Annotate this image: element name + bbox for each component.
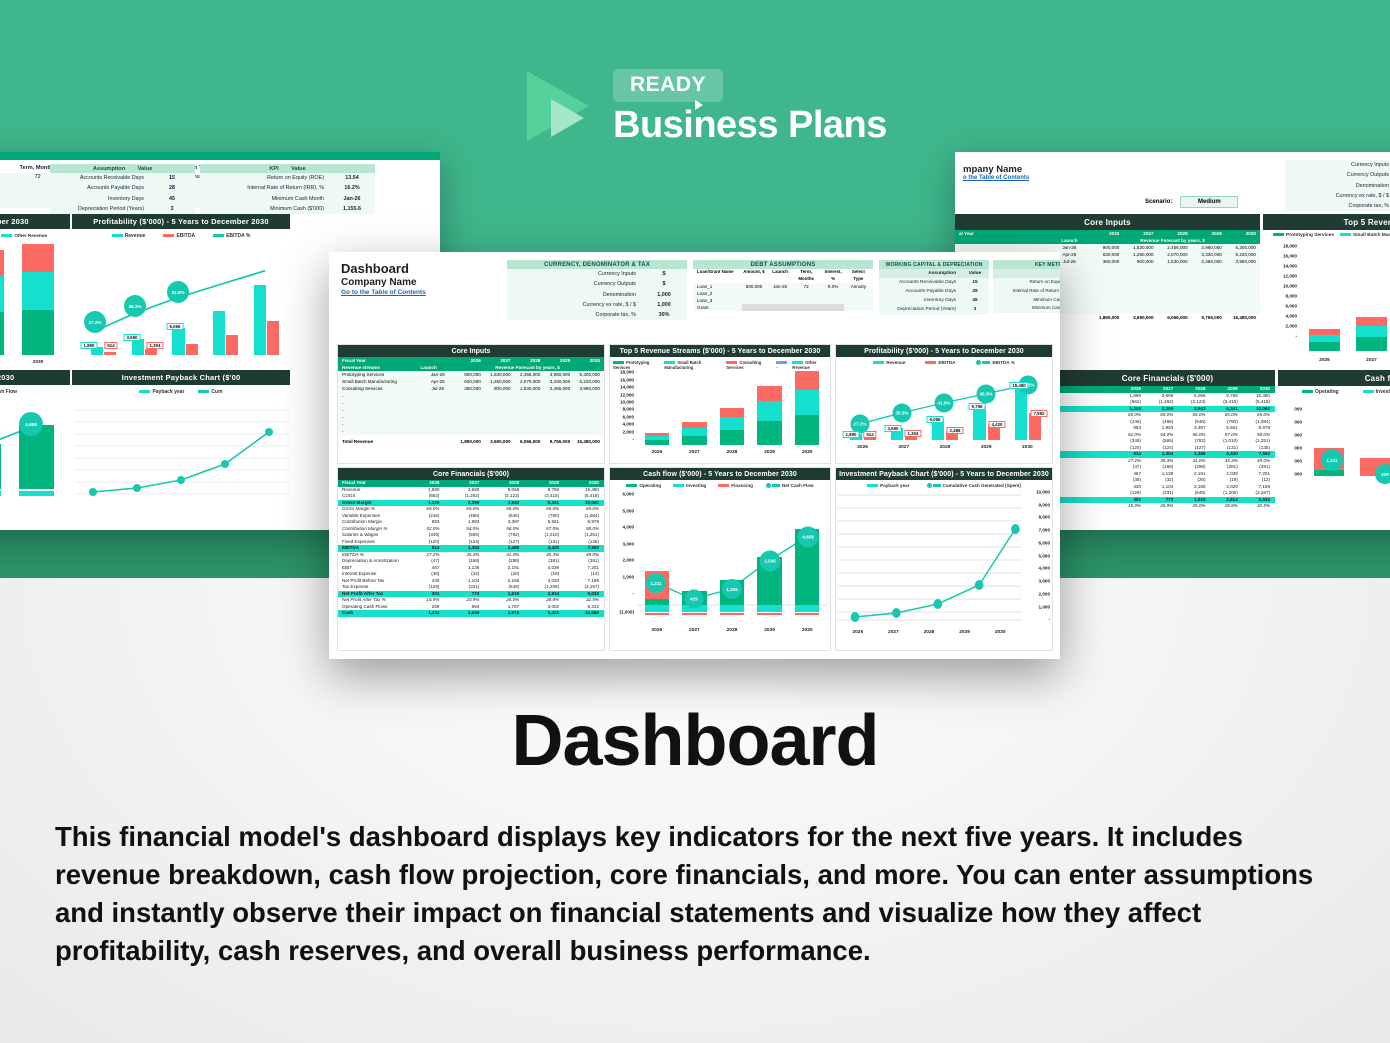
table-row[interactable]: - [338,393,604,400]
core-financials-body: Revenue1,8903,6906,0669,75615,480COGS(66… [338,487,604,617]
payback-x-axis: 20262027 20282029 2030 [840,626,1018,639]
row-value: 10,080 [564,610,604,617]
bar-2029 [757,489,781,605]
revenue-label-2030: 15,480 [1009,382,1028,389]
profitability-plot: 27.2% 35.3% 41.0% 45.3% 49.0% 1,890 514 … [836,366,1052,454]
table-row[interactable]: - [338,414,604,421]
row-value: 1,640 [444,610,484,617]
cash-flow-x-axis: 20262027 20282029 2030 [638,624,826,637]
corporate-tax-value[interactable]: 30% [641,310,687,320]
table-row[interactable]: Inventory Days45 [879,296,989,305]
investing-bars [638,605,826,613]
core-financials-table: Core Financials ($'000) Fiscal Year 2026… [337,467,605,651]
table-row[interactable]: - [338,421,604,428]
kpi-col-kpi: KPI [993,269,1060,278]
row-value: 5,422 [524,610,564,617]
row-label: Cash [338,610,405,617]
table-row[interactable]: Prototyping Services Jan-26 900,000 1,53… [338,371,604,378]
revenue-label-2026: 1,890 [843,431,860,438]
ncf-2027: 429 [685,590,704,609]
row-value: 1,211 [405,610,445,617]
table-row[interactable]: Consulting Services Jul-26 360,000 900,0… [338,385,604,392]
ncf-2028: 1,336 [722,579,742,599]
ncf-2030: 4,658 [798,527,819,548]
payback-chart-title: Investment Payback Chart ($'000) - 5 Yea… [836,468,1052,480]
kpi-caption: KEY METRICS [993,260,1060,269]
dashboard-header: Dashboard Company Name Go to the Table o… [341,262,426,296]
working-capital-panel: WORKING CAPITAL & DEPRECIATION Assumptio… [879,260,989,315]
play-triangle-icon [527,71,599,141]
currency-inputs-label: Currency Inputs [507,269,641,279]
table-row: Internal Rate of Return (IRR), %16.2% [993,287,1060,296]
currency-panel-caption: CURRENCY, DENOMINATOR & TAX [507,260,687,269]
top5-chart-plot: 18,000 16,000 14,000 12,000 10,000 8,000… [610,371,830,459]
debt-assumptions-panel: DEBT ASSUMPTIONS Loan/Grant Name Amount,… [693,260,873,311]
toc-link[interactable]: Go to the Table of Contents [341,289,426,296]
ebitda-pct-2028: 41.0% [935,394,954,413]
fx-rate-label: Currency ex rate, $ / $ [507,300,641,310]
financing-bars [638,613,826,616]
fx-rate-value[interactable]: 1,000 [641,300,687,310]
cash-flow-chart-title: Cash flow ($'000) - 5 Years to December … [610,468,830,480]
debt-col-interest: Interest, % [823,269,848,283]
debt-col-launch: Launch [770,269,793,283]
revenue-label-2028: 6,066 [927,416,944,423]
top5-y-axis: 18,000 16,000 14,000 12,000 10,000 8,000… [610,371,636,445]
core-inputs-year-header: Fiscal Year 2026 2027 2028 2029 2030 [338,357,604,364]
currency-outputs-label: Currency Outputs [507,279,641,289]
table-row[interactable]: - [338,400,604,407]
ncf-2029: 2,545 [760,551,781,572]
core-inputs-subheader: Revenue streams Launch Revenue Forecast … [338,364,604,371]
top5-x-axis: 20262027 20282029 2030 [638,446,826,459]
ebitda-pct-2027: 35.3% [893,404,912,423]
denomination-value[interactable]: 1,000 [641,290,687,300]
table-row[interactable]: Small Batch Manufacturing Apr-26 630,000… [338,378,604,385]
ebitda-label-2030: 7,592 [1031,410,1048,417]
table-row: Minimum Cash MonthJan-26 [993,296,1060,305]
bar-2029 [757,371,781,445]
dashboard-screenshot[interactable]: Dashboard Company Name Go to the Table o… [329,252,1060,659]
page-description: This financial model's dashboard display… [55,818,1345,970]
payback-plot: 10,000 9,000 8,000 7,000 6,000 5,000 4,0… [836,489,1052,641]
page-title: Dashboard [0,700,1390,782]
top5-chart-legend: Prototyping Services Small Batch Manufac… [610,357,830,371]
table-row[interactable]: Loan_3 [693,297,873,304]
revenue-label-2027: 3,690 [885,425,902,432]
cumulative-cash-line [836,489,1024,641]
table-row[interactable]: Accounts Receivable Days15 [879,278,989,287]
row-value: 2,976 [484,610,524,617]
revenue-label-2029: 9,756 [969,403,986,410]
payback-y-axis: 10,000 9,000 8,000 7,000 6,000 5,000 4,0… [1022,489,1052,623]
ncf-2026: 1,211 [646,573,666,593]
top5-chart-title: Top 5 Revenue Streams ($'000) - 5 Years … [610,345,830,357]
table-row[interactable]: Accounts Payable Days28 [879,287,989,296]
table-row[interactable]: - [338,428,604,435]
debt-col-name: Loan/Grant Name [693,269,742,283]
top5-revenue-chart: Top 5 Revenue Streams ($'000) - 5 Years … [609,344,831,464]
core-inputs-caption: Core Inputs [338,345,604,357]
table-row[interactable]: Loan_2 [693,290,873,297]
wcd-col-assumption: Assumption [879,269,961,278]
core-inputs-table: Core Inputs Fiscal Year 2026 2027 2028 2… [337,344,605,464]
payback-chart-legend: Payback year Cumulative Cash Generated (… [836,480,1052,489]
key-metrics-panel: KEY METRICS KPIValue Return on Equity (R… [993,260,1060,313]
ebitda-label-2026: 514 [863,431,876,438]
company-name: Company Name [341,277,426,290]
bar-2027 [682,489,706,605]
wcd-col-value: Value [961,269,989,278]
top5-bars [638,371,826,445]
ebitda-label-2028: 2,488 [947,427,964,434]
profitability-chart-legend: Revenue EBITDA EBITDA % [836,357,1052,366]
table-row[interactable]: Grant [693,304,873,311]
corporate-tax-label: Corporate tax, % [507,310,641,320]
ebitda-label-2029: 4,420 [989,421,1006,428]
ebitda-label-2027: 1,304 [905,430,922,437]
brand-name: Business Plans [613,106,887,144]
table-row[interactable]: Loan_1 500,000 Jan-26 72 8.0% Annuity [693,283,873,290]
debt-col-amount: Amount, $ [742,269,771,283]
cash-flow-plot: 6,000 5,000 4,000 3,000 2,000 1,000 - (1… [610,489,830,641]
brand-logo: READY Business Plans [527,60,887,152]
cash-flow-chart: Cash flow ($'000) - 5 Years to December … [609,467,831,651]
ebitda-pct-2029: 45.3% [977,385,996,404]
bar-2028 [720,371,744,445]
currency-inputs-value[interactable]: $ [641,269,687,279]
table-row: Cash1,2111,6402,9765,42210,080 [338,610,604,617]
denomination-label: Denomination [507,290,641,300]
table-row[interactable]: - [338,407,604,414]
currency-panel: CURRENCY, DENOMINATOR & TAX Currency Inp… [507,260,687,320]
currency-outputs-value[interactable]: $ [641,279,687,289]
debt-col-type: Select Type [848,269,873,283]
debt-panel-caption: DEBT ASSUMPTIONS [693,260,873,269]
bar-2026 [645,371,669,445]
profitability-x-axis: 20262027 20282029 2030 [842,441,1048,454]
debt-col-term: Term, Months [794,269,823,283]
cash-flow-chart-legend: Operating Investing Financing Net Cash F… [610,480,830,489]
core-financials-caption: Core Financials ($'000) [338,468,604,480]
ready-badge: READY [613,69,723,102]
table-row[interactable]: Depreciation Period (Years)3 [879,305,989,314]
core-inputs-total-row: Total Revenue 1,890,000 3,690,000 6,066,… [338,438,604,445]
table-row: Return on Equity (ROE)13.54 [993,278,1060,287]
profitability-chart-title: Profitability ($'000) - 5 Years to Decem… [836,345,1052,357]
bar-2030 [795,371,819,445]
profitability-chart: Profitability ($'000) - 5 Years to Decem… [835,344,1053,464]
investment-payback-chart: Investment Payback Chart ($'000) - 5 Yea… [835,467,1053,651]
dashboard-title: Dashboard [341,262,426,277]
table-row: Minimum Cash ($'000)1,155.6 [993,304,1060,313]
wcd-caption: WORKING CAPITAL & DEPRECIATION [879,260,989,269]
bar-2027 [682,371,706,445]
